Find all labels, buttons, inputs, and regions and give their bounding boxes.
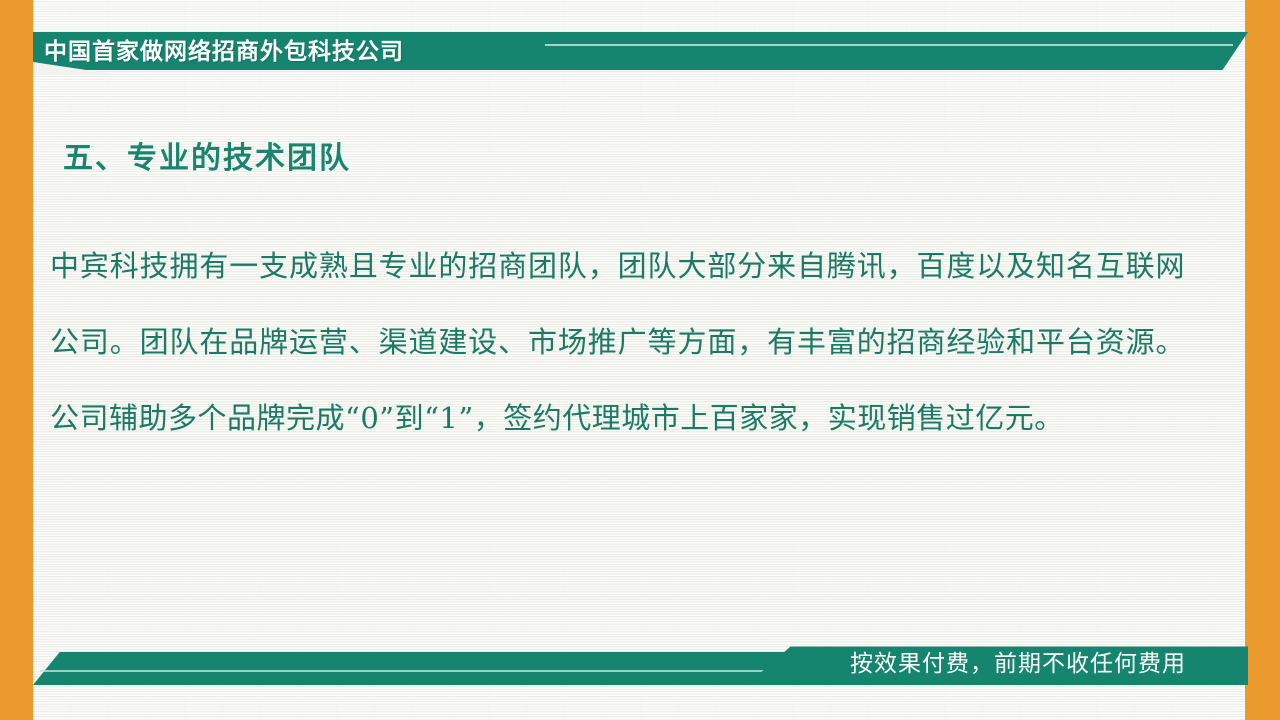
slide-root: 中国首家做网络招商外包科技公司 五、专业的技术团队 中宾科技拥有一支成熟且专业的… <box>0 0 1280 720</box>
section-title: 五、专业的技术团队 <box>63 133 351 177</box>
footer-tagline: 按效果付费，前期不收任何费用 <box>850 645 1186 681</box>
section-body-paragraph: 中宾科技拥有一支成熟且专业的招商团队，团队大部分来自腾讯，百度以及知名互联网公司… <box>50 228 1185 456</box>
header-title: 中国首家做网络招商外包科技公司 <box>44 33 404 69</box>
header-hairline-divider <box>545 44 1233 46</box>
